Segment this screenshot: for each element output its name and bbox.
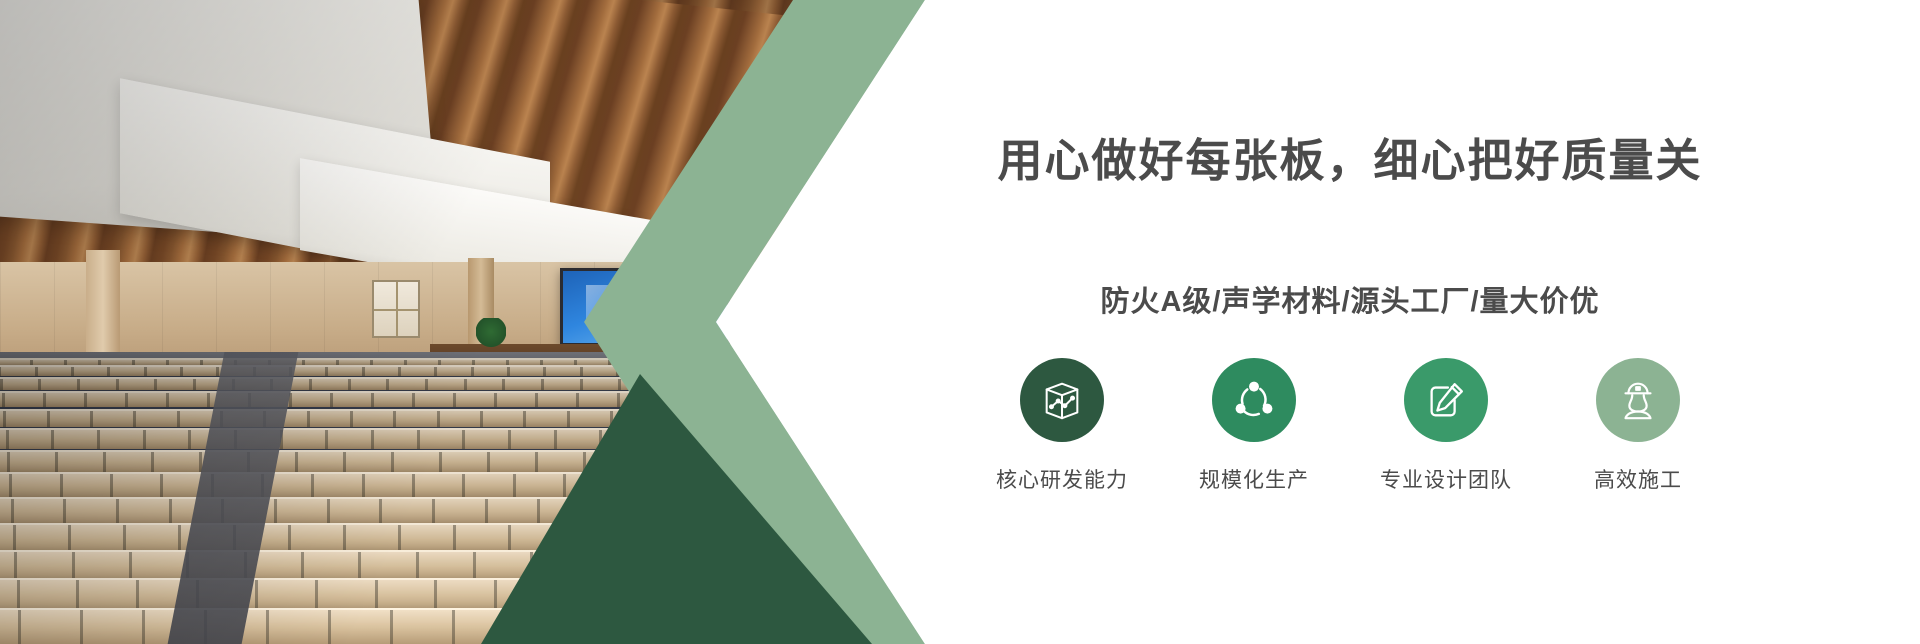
potted-plant	[476, 318, 506, 352]
banner-content: 用心做好每张板，细心把好质量关 防火A级/声学材料/源头工厂/量大价优	[820, 0, 1920, 644]
pencil-edit-square-icon	[1423, 377, 1469, 423]
promo-banner: 用心做好每张板，细心把好质量关 防火A级/声学材料/源头工厂/量大价优	[0, 0, 1920, 644]
research-box-chart-icon	[1039, 377, 1085, 423]
feature-icon-circle	[1404, 358, 1488, 442]
wall-door	[372, 280, 420, 338]
feature-label: 核心研发能力	[987, 464, 1137, 494]
feature-list: 核心研发能力 规模化生产	[820, 358, 1880, 494]
share-network-icon	[1231, 377, 1277, 423]
feature-item-production[interactable]: 规模化生产	[1179, 358, 1329, 494]
feature-icon-circle	[1020, 358, 1104, 442]
feature-item-rnd[interactable]: 核心研发能力	[987, 358, 1137, 494]
banner-headline: 用心做好每张板，细心把好质量关	[820, 124, 1880, 189]
feature-label: 高效施工	[1563, 464, 1713, 494]
feature-icon-circle	[1596, 358, 1680, 442]
worker-helmet-icon	[1615, 377, 1661, 423]
banner-subheadline: 防火A级/声学材料/源头工厂/量大价优	[820, 278, 1880, 320]
feature-item-design[interactable]: 专业设计团队	[1371, 358, 1521, 494]
feature-item-construction[interactable]: 高效施工	[1563, 358, 1713, 494]
feature-label: 专业设计团队	[1371, 464, 1521, 494]
feature-label: 规模化生产	[1179, 464, 1329, 494]
feature-icon-circle	[1212, 358, 1296, 442]
